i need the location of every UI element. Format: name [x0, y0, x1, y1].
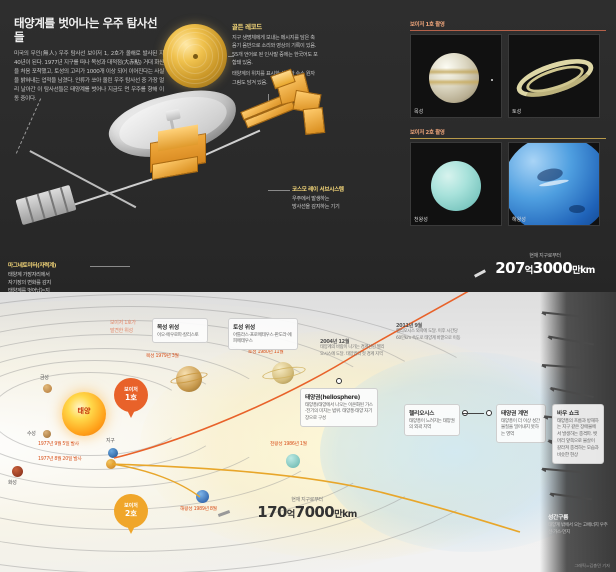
- cosmic-ray-line-2: 방사선을 감지하는 기기: [292, 204, 339, 210]
- photo-uranus[interactable]: 천왕성: [410, 142, 502, 226]
- cosmic-ray-line-1: 우주에서 발생하는: [292, 196, 329, 202]
- date-2004-body: 태양계의 바람이 나가는 경계선인 헬리오시스에 도달. 태양권의 첫 경계 지…: [320, 345, 386, 358]
- magnetometer-line-2: 자기장의 변화를 감지: [8, 280, 51, 286]
- jupiter-icon: [429, 53, 479, 103]
- title-block: 태양계를 벗어나는 우주 탐사선들 미국의 무인(無人) 우주 탐사선 보이저 …: [14, 16, 164, 104]
- date-2011-label: 2011년 9월: [396, 322, 462, 329]
- photo-saturn-caption: 토성: [512, 108, 521, 115]
- infographic-root: 태양계를 벗어나는 우주 탐사선들 미국의 무인(無人) 우주 탐사선 보이저 …: [0, 0, 616, 572]
- photo-group-1-rule: [410, 30, 606, 31]
- distance-2-value: 170: [257, 503, 287, 521]
- neptune-icon: [508, 142, 600, 226]
- photo-neptune-caption: 해왕성: [512, 216, 526, 223]
- intro-paragraph: 미국의 무인(無人) 우주 탐사선 보이저 1, 2호가 올해로 발사된 지 4…: [14, 50, 164, 104]
- photo-group-2-label: 보이저 2호 촬영: [410, 128, 606, 136]
- heliopause-dot-marker: [486, 410, 492, 416]
- distance-2-unit-1: 억: [287, 509, 295, 520]
- distance-2-value-2: 7000: [295, 503, 334, 521]
- bow-shock-body-2: 태양풍의 흐름과 방해하는 지구 같은 장애물에서 발생하는 충격파. 뱃머리 …: [557, 419, 599, 460]
- distance-1-value: 207: [495, 259, 525, 277]
- cosmic-ray-leader-line: [268, 190, 290, 191]
- jupiter-moon-icon: [491, 79, 493, 81]
- photo-jupiter[interactable]: 목성: [410, 34, 502, 118]
- heliopause-title: 태양권 계면: [501, 408, 541, 417]
- photo-neptune[interactable]: 해왕성: [508, 142, 600, 226]
- heliosphere-title: 태양권(heliosphere): [305, 392, 373, 401]
- callout-interstellar-cloud: 성간구름 태양계 밖에서 오는 고에너지 우주선·가스·먼지: [548, 512, 610, 537]
- magnetometer-leader-line: [90, 266, 130, 267]
- uranus-icon: [431, 161, 481, 211]
- photo-uranus-caption: 천왕성: [414, 216, 428, 223]
- distance-voyager-2: 현재 지구로부터 170억7000만km: [232, 496, 382, 521]
- distance-2-prefix: 현재 지구로부터: [232, 496, 382, 503]
- photo-group-voyager2: 보이저 2호 촬영 천왕성 해왕성: [410, 128, 606, 226]
- date-2011-body: 헬리오시스 외곽에 도달. 이후 시간당 60만km 속도로 태양계 바깥으로 …: [396, 329, 462, 342]
- callout-heliosphere: 태양권(heliosphere) 태양풍(태양에서 나오는 이온화된 가스·전기…: [300, 388, 378, 427]
- magnetometer-line-1: 태양계 가장자리에서: [8, 272, 50, 278]
- callout-heliopause: 태양권 계면 태양풍이 더 이상 성간물질을 밀어내지 못하는 영역: [496, 404, 546, 443]
- golden-record-heading: 골든 레코드: [232, 22, 318, 31]
- heliopause-body: 태양풍이 더 이상 성간물질을 밀어내지 못하는 영역: [501, 419, 541, 440]
- callout-heliosheath: 헬리오시스 태양풍이 느려지는 태양권의 외곽 지역: [404, 404, 460, 436]
- heliosheath-title: 헬리오시스: [409, 408, 455, 417]
- interstellar-cloud-title: 성간구름: [548, 512, 610, 521]
- saturn-icon: [515, 57, 595, 101]
- credit-line: 그래픽=김충민 기자: [574, 563, 610, 569]
- voyager2-neptune-leg: [112, 464, 200, 497]
- heliosheath-body: 태양풍이 느려지는 태양권의 외곽 지역: [409, 419, 455, 433]
- photo-jupiter-caption: 목성: [414, 108, 423, 115]
- distance-1-unit-2: 만km: [572, 265, 595, 276]
- callout-2004-date: 2004년 12월 태양계의 바람이 나가는 경계선인 헬리오시스에 도달. 태…: [320, 338, 386, 358]
- distance-1-prefix: 현재 지구로부터: [490, 252, 600, 259]
- heliosheath-leader: [462, 413, 484, 414]
- date-2004-label: 2004년 12월: [320, 338, 386, 345]
- photo-saturn[interactable]: 토성: [508, 34, 600, 118]
- photo-group-voyager1: 보이저 1호 촬영 목성 토성: [410, 20, 606, 118]
- science-boom-truss: [232, 70, 342, 150]
- interstellar-cloud-body: 태양계 밖에서 오는 고에너지 우주선·가스·먼지: [548, 523, 610, 537]
- photo-group-2-rule: [410, 138, 606, 139]
- photo-group-1-label: 보이저 1호 촬영: [410, 20, 606, 28]
- page-title: 태양계를 벗어나는 우주 탐사선들: [14, 16, 164, 45]
- distance-1-value-2: 3000: [533, 259, 572, 277]
- magnetometer-heading: 마그네토미터(자력계): [8, 263, 56, 269]
- distance-2-unit-2: 만km: [334, 509, 357, 520]
- bow-shock-title-2: 바우 쇼크: [557, 408, 599, 417]
- heliosphere-body: 태양풍(태양에서 나오는 이온화된 가스·전기의 미치는 범위. 태양풍·태양 …: [305, 403, 373, 424]
- cosmic-ray-heading: 코스모 레이 서브시스템: [292, 187, 344, 193]
- golden-record-disc: [163, 24, 227, 88]
- callout-2011-date: 2011년 9월 헬리오시스 외곽에 도달. 이후 시간당 60만km 속도로 …: [396, 322, 462, 342]
- heliosphere-dot-marker: [336, 378, 342, 384]
- callout-bow-shock-front: 바우 쇼크 태양풍의 흐름과 방해하는 지구 같은 장애물에서 발생하는 충격파…: [552, 404, 604, 464]
- distance-voyager-1: 현재 지구로부터 207억3000만km: [490, 252, 600, 277]
- distance-1-unit-1: 억: [525, 265, 533, 276]
- cosmic-ray-callout: 코스모 레이 서브시스템 우주에서 발생하는 방사선을 감지하는 기기: [292, 186, 344, 211]
- golden-record-text-1: 지구 생명체에게 보내는 메시지를 담은 축음기 음반으로 소리와 영상의 기록…: [232, 34, 318, 67]
